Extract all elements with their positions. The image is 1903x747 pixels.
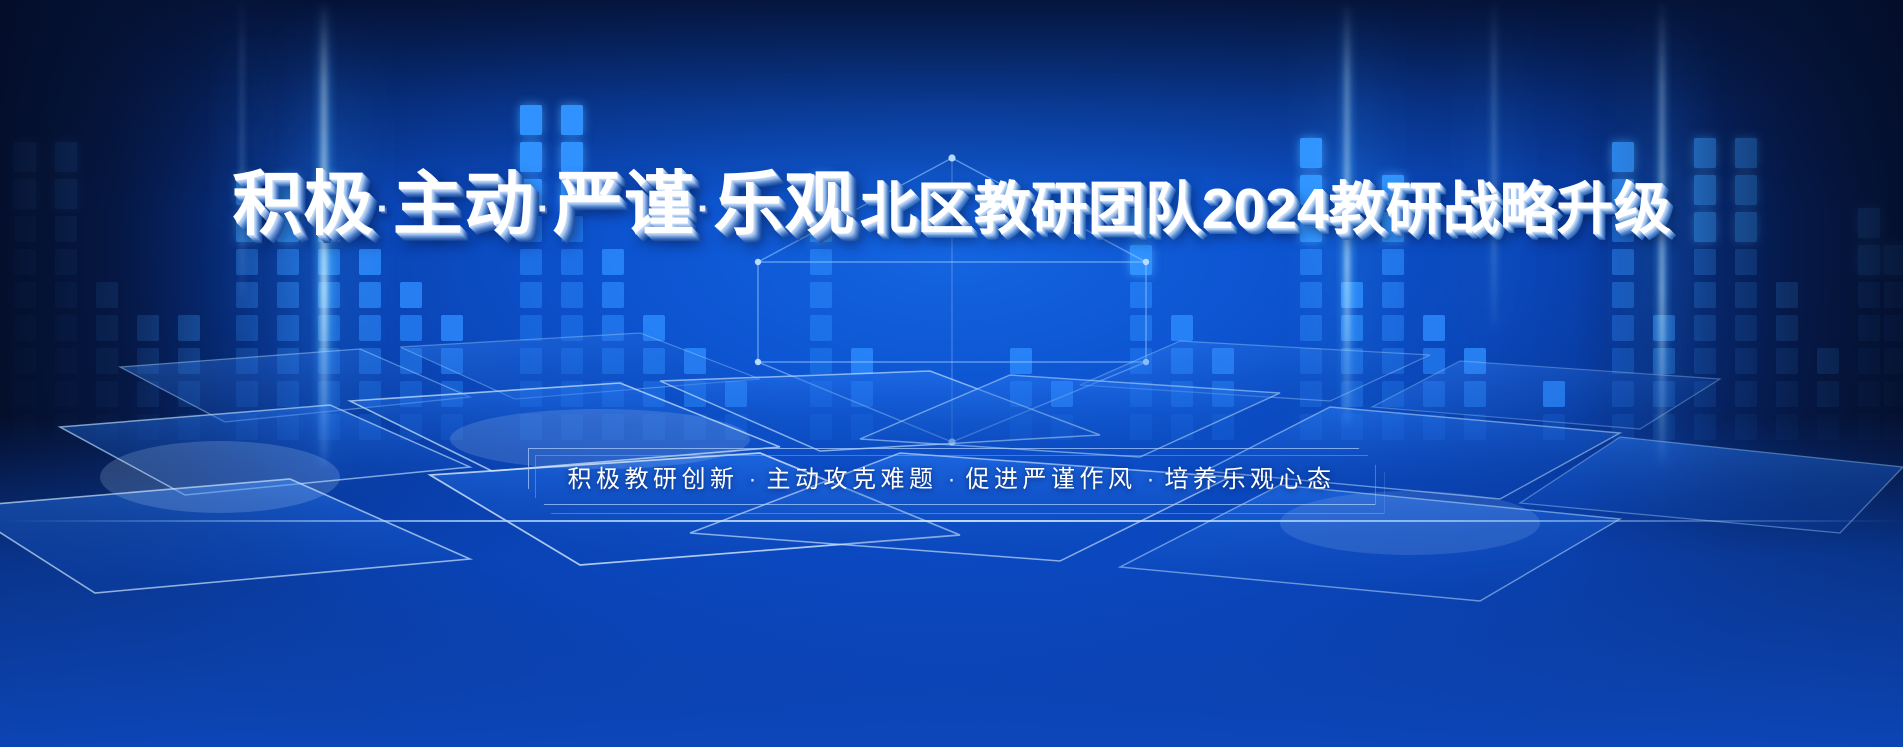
tagline-block: 积极教研创新·主动攻克难题·促进严谨作风·培养乐观心态 [528, 448, 1376, 505]
tagline-item-2: 主动攻克难题 [767, 466, 938, 493]
slogan-word-3: 严谨 [553, 165, 695, 243]
light-beam-halo [1608, 0, 1716, 510]
tagline-separator-2: · [938, 466, 966, 493]
light-beam-decoration [0, 0, 1903, 747]
tagline-separator-1: · [739, 466, 767, 493]
light-beam-halo [254, 0, 394, 510]
light-beam [236, 0, 248, 300]
main-title-line1: 积极·主动·严谨·乐观 [232, 168, 855, 240]
tagline-item-3: 促进严谨作风 [966, 466, 1137, 493]
tagline-item-4: 培养乐观心态 [1165, 466, 1336, 493]
main-title-line2: 北区教研团队2024教研战略升级 [860, 180, 1671, 240]
headline-block: 积极·主动·严谨·乐观 北区教研团队2024教研战略升级 [0, 168, 1903, 240]
promo-banner: 积极·主动·严谨·乐观 北区教研团队2024教研战略升级 积极教研创新·主动攻克… [0, 0, 1903, 747]
slogan-separator-1: · [374, 187, 392, 231]
light-beam [1486, 0, 1502, 330]
tagline-item-1: 积极教研创新 [568, 466, 739, 493]
tagline-frame: 积极教研创新·主动攻克难题·促进严谨作风·培养乐观心态 [528, 448, 1376, 505]
slogan-word-1: 积极 [232, 165, 374, 243]
horizon-line [0, 520, 1903, 522]
tagline-text: 积极教研创新·主动攻克难题·促进严谨作风·培养乐观心态 [568, 459, 1336, 494]
slogan-word-4: 乐观 [713, 165, 855, 243]
slogan-separator-2: · [535, 187, 553, 231]
slogan-separator-3: · [695, 187, 713, 231]
tagline-separator-3: · [1137, 466, 1165, 493]
slogan-word-2: 主动 [393, 165, 535, 243]
